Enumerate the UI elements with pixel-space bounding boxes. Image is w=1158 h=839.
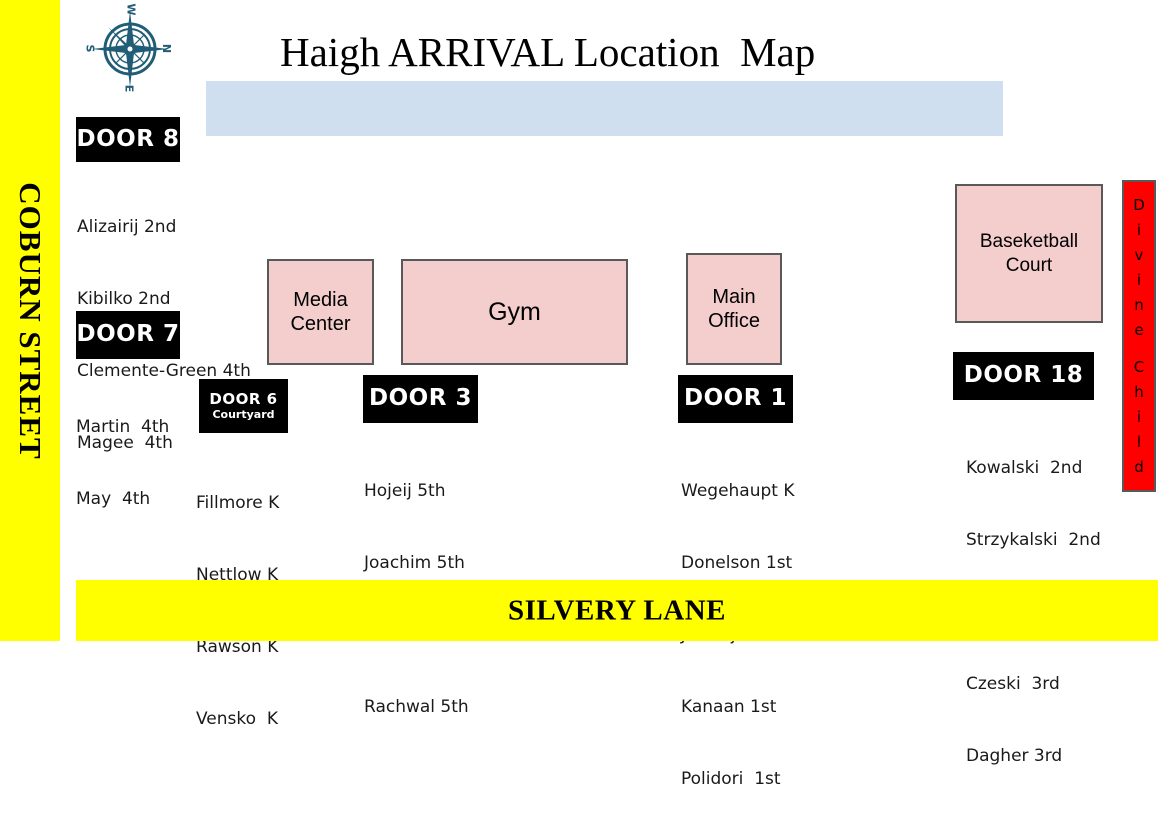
list-item: Hojeij 5th [364,479,469,503]
building-label-line2: Court [980,254,1078,277]
door-sign-label: DOOR 1 [684,386,787,411]
divine-child-letter: i [1137,405,1141,430]
building-gym: Gym [401,259,628,365]
street-silvery-lane: SILVERY LANE [76,580,1158,641]
building-label-line2: Office [708,309,760,333]
divine-child-bar: D i v i n e C h i l d [1122,180,1156,492]
compass-label-south: S [83,45,96,53]
building-main-office: Main Office [686,253,782,365]
door-sign-label: DOOR 3 [369,386,472,411]
list-item: Dagher 3rd [966,744,1101,768]
door-sign-door-3[interactable]: DOOR 3 [363,375,478,423]
building-label-line1: Main [708,285,760,309]
building-basketball-court: Baseketball Court [955,184,1103,323]
door-sign-label: DOOR 6 [209,391,277,408]
building-gym-label: Gym [488,297,541,328]
door-sign-sublabel: Courtyard [212,409,274,421]
page-title: Haigh ARRIVAL Location Map [280,28,815,76]
list-item: Donelson 1st [681,551,801,575]
divine-child-letter: v [1135,243,1144,268]
list-item: Wegehaupt K [681,479,801,503]
list-item: Czeski 3rd [966,672,1101,696]
divine-child-letter: D [1133,193,1145,218]
building-media-center: Media Center [267,259,374,365]
divine-child-letter: i [1137,268,1141,293]
compass-label-east: E [122,85,135,93]
list-item: Martin 4th [76,415,169,439]
building-basketball-court-label: Baseketball Court [980,230,1078,276]
door-sign-door-6[interactable]: DOOR 6 Courtyard [199,379,288,433]
list-item: Polidori 1st [681,767,801,791]
list-item: Alizairij 2nd [77,215,251,239]
divine-child-letter: l [1137,430,1141,455]
divine-child-letter: C [1134,355,1144,380]
building-label-line1: Media [290,288,350,312]
divine-child-letter: d [1134,455,1144,480]
door-sign-door-1[interactable]: DOOR 1 [678,375,793,423]
list-item: Strzykalski 2nd [966,528,1101,552]
list-item: Rachwal 5th [364,695,469,719]
list-item: Fillmore K [196,491,279,515]
compass-label-west: W [125,3,138,15]
compass-label-north: N [160,44,173,53]
door-sign-label: DOOR 7 [77,322,180,347]
door-sign-door-8[interactable]: DOOR 8 [76,117,180,162]
list-item: May 4th [76,487,169,511]
divine-child-letter: e [1134,318,1143,343]
door-sign-door-18[interactable]: DOOR 18 [953,352,1094,400]
door-7-student-list: Martin 4th May 4th [76,367,169,559]
banner-strip [206,81,1003,136]
building-media-center-label: Media Center [290,288,350,337]
compass-rose-icon: W N E S [84,3,176,95]
building-label-line2: Center [290,312,350,336]
street-coburn: COBURN STREET [0,0,60,641]
street-silvery-lane-label: SILVERY LANE [76,594,1158,627]
divine-child-letter: i [1137,218,1141,243]
divine-child-letter: n [1134,293,1144,318]
door-sign-label: DOOR 8 [77,127,180,152]
building-main-office-label: Main Office [708,285,760,334]
list-item: Kanaan 1st [681,695,801,719]
door-sign-label: DOOR 18 [964,363,1083,388]
divine-child-letter: h [1134,380,1144,405]
list-item: Vensko K [196,707,279,731]
building-label-line1: Baseketball [980,230,1078,253]
arrival-location-map: COBURN STREET [0,0,1158,641]
list-item: Joachim 5th [364,551,469,575]
street-coburn-label: COBURN STREET [12,182,48,459]
list-item: Kowalski 2nd [966,456,1101,480]
door-sign-door-7[interactable]: DOOR 7 [76,311,180,359]
list-item: Kibilko 2nd [77,287,251,311]
